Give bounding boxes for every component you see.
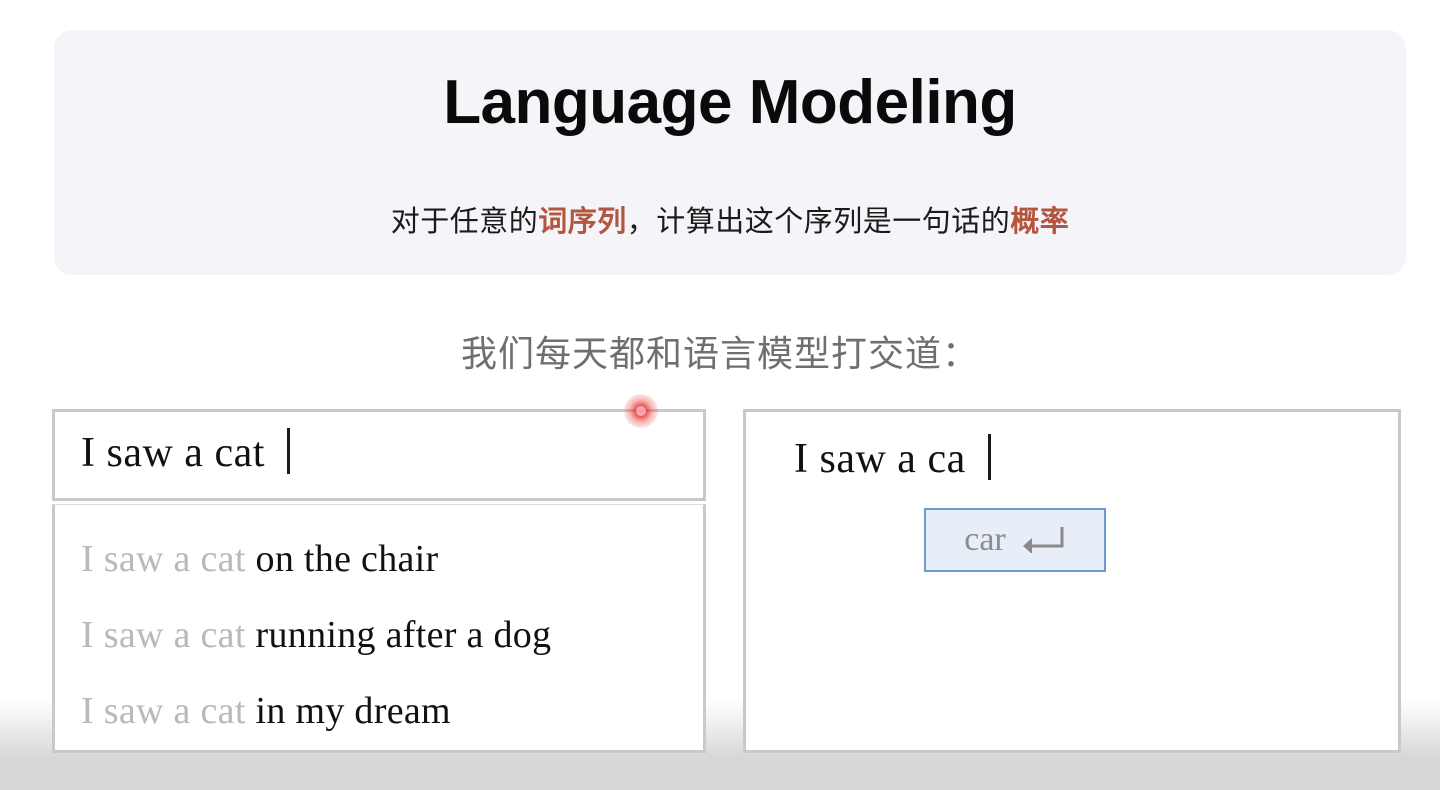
text-caret xyxy=(287,428,290,474)
typed-query-value-right: I saw a ca xyxy=(794,436,966,482)
typed-query-text: I saw a cat xyxy=(81,428,290,477)
subtitle-highlight-word-sequence: 词序列 xyxy=(538,206,627,238)
subtitle-part-2: ，计算出这个序列是一句话的 xyxy=(627,206,1011,238)
subtitle-highlight-probability: 概率 xyxy=(1010,206,1069,238)
page-subtitle: 对于任意的词序列，计算出这个序列是一句话的概率 xyxy=(54,198,1406,240)
suggestion-prefix: I saw a cat xyxy=(81,614,246,656)
list-item[interactable]: I saw a cat in my dream xyxy=(81,673,681,749)
mid-caption: 我们每天都和语言模型打交道： xyxy=(0,325,1440,377)
list-item[interactable]: I saw a cat on the chair xyxy=(81,521,681,597)
suggestion-prefix: I saw a cat xyxy=(81,538,246,580)
autocomplete-label: car xyxy=(964,523,1006,557)
subtitle-part-1: 对于任意的 xyxy=(391,206,539,238)
suggestion-prefix: I saw a cat xyxy=(81,690,246,732)
text-caret-right xyxy=(988,434,991,480)
suggestion-completion: in my dream xyxy=(246,690,451,732)
search-input-box[interactable]: I saw a cat xyxy=(52,409,706,501)
header-card: Language Modeling 对于任意的词序列，计算出这个序列是一句话的概… xyxy=(54,30,1406,275)
suggestion-list: I saw a cat on the chair I saw a cat run… xyxy=(81,521,681,749)
page-bottom-band xyxy=(0,757,1440,790)
enter-return-icon xyxy=(1020,527,1066,553)
list-item[interactable]: I saw a cat running after a dog xyxy=(81,597,681,673)
suggestion-completion: running after a dog xyxy=(246,614,552,656)
suggestion-completion: on the chair xyxy=(246,538,439,580)
left-demo-panel: I saw a cat I saw a cat on the chair I s… xyxy=(52,409,706,753)
typed-query-text-right[interactable]: I saw a ca xyxy=(794,434,991,483)
right-demo-panel: I saw a ca car xyxy=(743,409,1401,753)
typed-query-value: I saw a cat xyxy=(81,430,265,476)
page-title: Language Modeling xyxy=(54,70,1406,135)
suggestion-dropdown[interactable]: I saw a cat on the chair I saw a cat run… xyxy=(52,504,706,753)
autocomplete-suggestion-chip[interactable]: car xyxy=(924,508,1106,572)
